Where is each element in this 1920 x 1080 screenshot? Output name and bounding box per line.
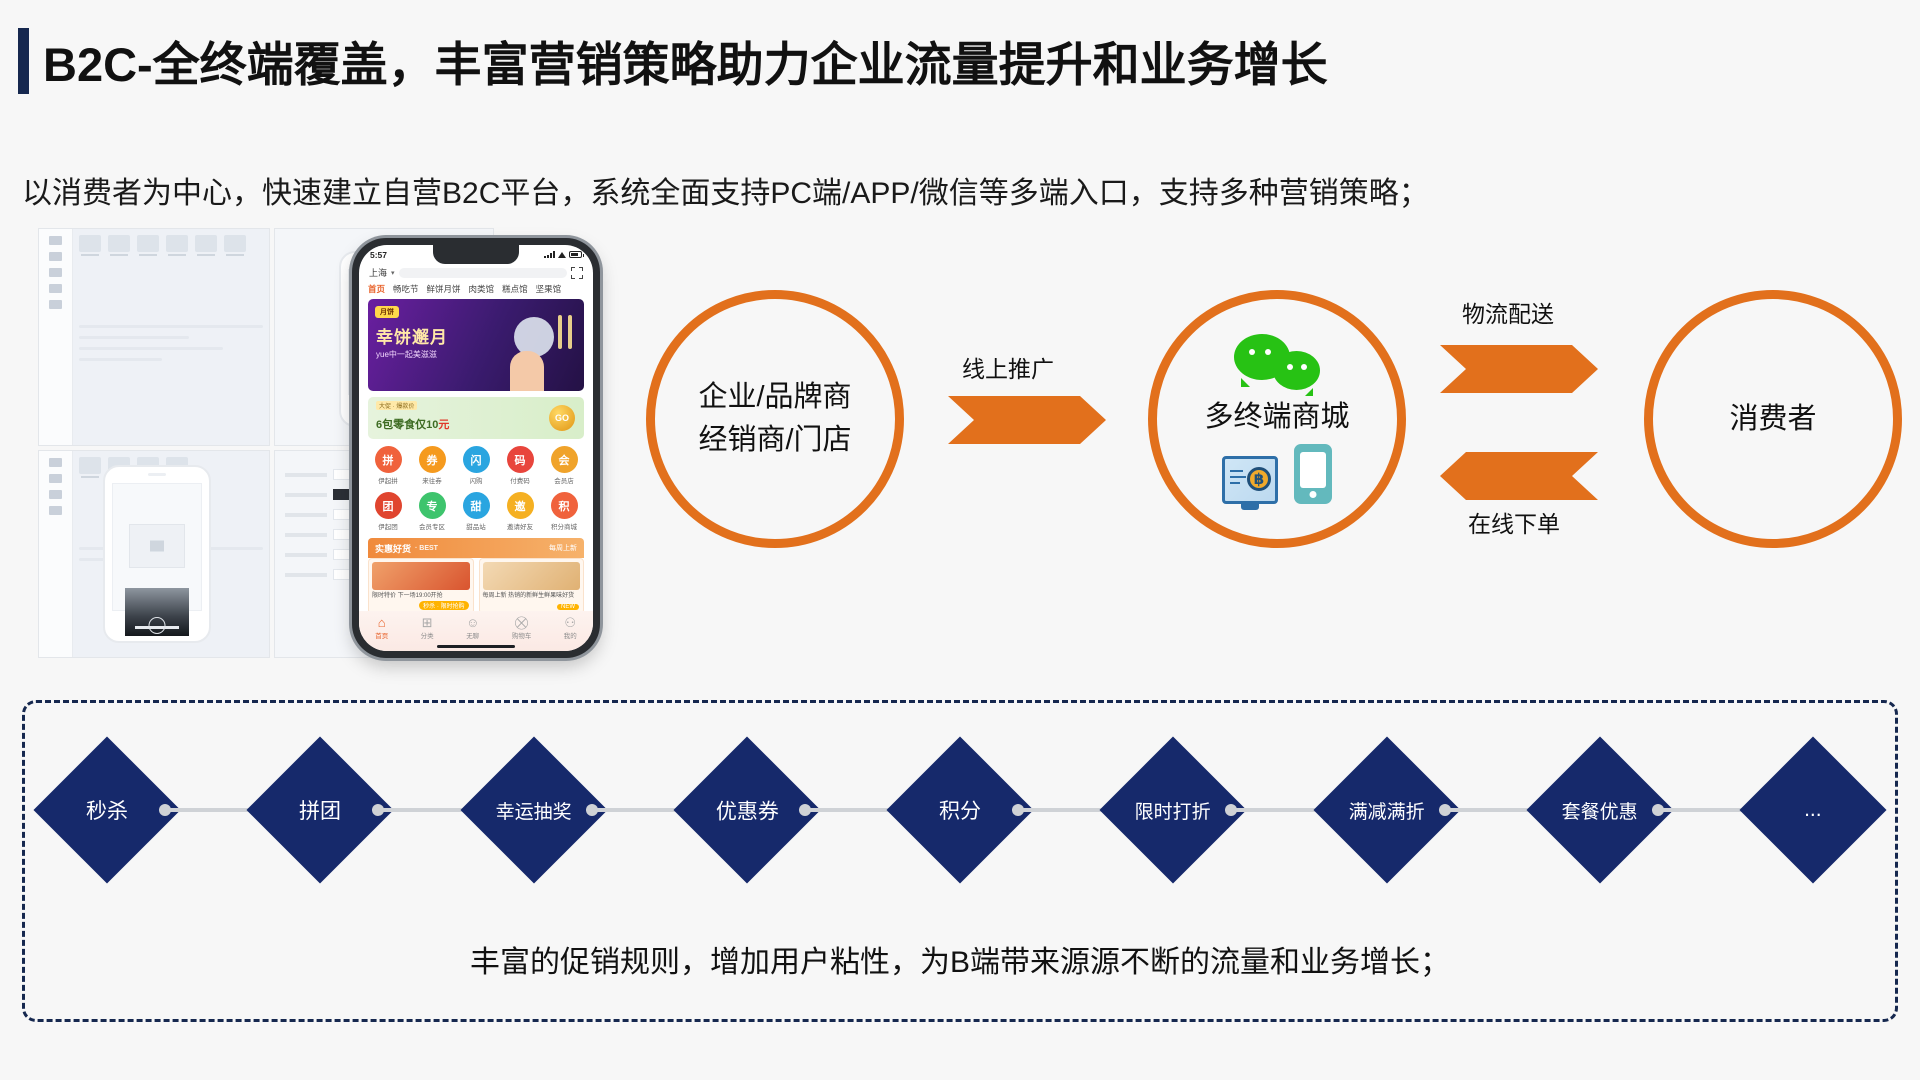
promotion-item[interactable]: 积分 — [908, 758, 1012, 862]
chevron-down-icon[interactable]: ▾ — [391, 269, 395, 277]
sidebar-icon — [49, 490, 62, 499]
palette-tile — [137, 235, 159, 252]
nav-item[interactable]: 鲜饼月饼 — [427, 283, 461, 295]
arrow-logistics-delivery — [1440, 345, 1598, 393]
tab-chat[interactable]: ☺无聊 — [466, 616, 479, 640]
grid-item[interactable]: 甜甜品站 — [456, 492, 496, 531]
promotion-item[interactable]: ... — [1761, 758, 1865, 862]
nav-item[interactable]: 糕点馆 — [502, 283, 528, 295]
mobile-home-button — [1310, 491, 1317, 498]
wifi-icon — [558, 252, 566, 258]
quick-entry-label: 伊起团 — [368, 521, 408, 531]
sidebar-icon — [49, 268, 62, 277]
quick-entry-icon: 码 — [507, 446, 534, 473]
promotion-label: 限时打折 — [1135, 796, 1211, 823]
sidebar-icon — [49, 506, 62, 515]
page-title: B2C-全终端覆盖，丰富营销策略助力企业流量提升和业务增长 — [18, 26, 1328, 95]
tab-category[interactable]: ⊞分类 — [421, 616, 434, 640]
app-top-bar: 上海 ▾ — [359, 264, 593, 281]
hero-headline: 幸饼邂月 — [376, 323, 448, 348]
product-badge: NEW — [557, 604, 579, 610]
phone-preview-bottom — [103, 465, 211, 643]
fork-icon — [558, 315, 562, 349]
product-card[interactable]: 限时特价 下一场19:00开抢 秒杀 · 限时抢购 — [368, 558, 474, 614]
multiterminal-mall-label: 多终端商城 — [1204, 396, 1349, 439]
arrow-online-order — [1440, 452, 1598, 500]
tab-label: 首页 — [375, 630, 388, 640]
quick-entry-icon: 拼 — [375, 446, 402, 473]
app-category-nav[interactable]: 首页 畅吃节 鲜饼月饼 肉类馆 糕点馆 坚果馆 — [359, 281, 593, 299]
tab-home[interactable]: ⌂首页 — [375, 616, 388, 640]
bitcoin-icon: ฿ — [1247, 467, 1271, 491]
grid-item[interactable]: 拼伊起拼 — [368, 446, 408, 485]
home-button — [149, 617, 166, 634]
grid-item[interactable]: 券来往券 — [412, 446, 452, 485]
line — [79, 358, 162, 361]
quick-entry-grid[interactable]: 拼伊起拼 券来往券 闪闪购 码付费码 会会员店 团伊起团 专会员专区 甜甜品站 … — [368, 446, 584, 531]
promotion-item[interactable]: 幸运抽奖 — [482, 758, 586, 862]
mobile-screen — [1300, 452, 1326, 488]
sidebar-icon — [49, 236, 62, 245]
promotion-item[interactable]: 套餐优惠 — [1548, 758, 1652, 862]
status-indicators — [544, 251, 582, 258]
product-list[interactable]: 限时特价 下一场19:00开抢 秒杀 · 限时抢购 每周上新 热销的新鲜生鲜果味… — [368, 558, 584, 614]
quick-entry-label: 甜品站 — [456, 521, 496, 531]
camera-icon — [148, 473, 166, 476]
promo-main-text: 6包零食仅10 — [376, 419, 438, 431]
promo-unit: 元 — [438, 419, 449, 431]
eye — [1265, 349, 1271, 355]
promotion-label: ... — [1804, 798, 1822, 822]
quick-entry-icon: 甜 — [463, 492, 490, 519]
product-title: 限时特价 下一场19:00开抢 — [372, 592, 470, 600]
quick-entry-icon: 团 — [375, 492, 402, 519]
field-label — [285, 533, 327, 537]
tab-label: 购物车 — [512, 630, 532, 640]
grid-item[interactable]: 闪闪购 — [456, 446, 496, 485]
bubble-small — [1273, 351, 1320, 390]
section-header-best: 实惠好货 · BEST 每周上新 — [368, 538, 584, 558]
promo-go-button[interactable]: GO — [549, 405, 575, 431]
palette-tile — [79, 235, 101, 252]
grid-item[interactable]: 积积分商城 — [544, 492, 584, 531]
title-accent-bar — [18, 28, 29, 94]
promotion-diamond: 幸运抽奖 — [460, 736, 607, 883]
quick-entry-icon: 邀 — [507, 492, 534, 519]
quick-entry-label: 积分商城 — [544, 521, 584, 531]
grid-item[interactable]: 专会员专区 — [412, 492, 452, 531]
status-time: 5:57 — [370, 250, 387, 260]
slide-canvas: B2C-全终端覆盖，丰富营销策略助力企业流量提升和业务增长 以消费者为中心，快速… — [0, 0, 1920, 1080]
sidebar-strip — [39, 229, 73, 445]
tab-label: 分类 — [421, 630, 434, 640]
quick-entry-icon: 积 — [551, 492, 578, 519]
sidebar-icon — [49, 284, 62, 293]
sidebar-icon — [49, 252, 62, 261]
line — [79, 336, 189, 339]
flow-node-enterprise: 企业/品牌商 经销商/门店 — [646, 290, 904, 548]
palette-tile — [166, 235, 188, 252]
iphone-mockup: 5:57 上海 ▾ 首页 畅吃节 鲜饼月饼 肉类馆 糕点馆 坚果馆 — [352, 238, 600, 658]
grid-icon: ⊞ — [421, 616, 434, 630]
flow-node-consumer: 消费者 — [1644, 290, 1902, 548]
promotion-item[interactable]: 拼团 — [268, 758, 372, 862]
person-icon: ⚇ — [564, 616, 577, 630]
arrow-label-online-promotion: 线上推广 — [962, 350, 1054, 384]
battery-icon — [569, 251, 582, 258]
admin-screenshot-top-left — [38, 228, 270, 446]
promotion-item[interactable]: 优惠券 — [695, 758, 799, 862]
section-title: 实惠好货 — [375, 542, 411, 555]
product-title: 每周上新 热销的新鲜生鲜果味好货 — [483, 592, 581, 600]
placeholder-lines — [79, 325, 263, 369]
promotions-panel: 秒杀 拼团 幸运抽奖 优惠券 积分 限时打折 满减满 — [22, 700, 1898, 1022]
product-badge: 秒杀 · 限时抢购 — [419, 601, 468, 610]
eye — [1287, 364, 1293, 370]
promotion-label: 幸运抽奖 — [495, 796, 571, 823]
promotion-label: 套餐优惠 — [1562, 796, 1638, 823]
promo-text: 6包零食仅10元 — [376, 416, 449, 432]
field-label — [285, 513, 327, 517]
grid-item[interactable]: 码付费码 — [500, 446, 540, 485]
section-right-label: 每周上新 — [549, 543, 577, 553]
admin-screenshot-bottom-left — [38, 450, 270, 658]
section-subtitle: · BEST — [415, 545, 438, 552]
eye — [1249, 349, 1255, 355]
promotion-item[interactable]: 秒杀 — [55, 758, 159, 862]
quick-entry-label: 伊起拼 — [368, 475, 408, 485]
eye — [1301, 364, 1307, 370]
product-image — [372, 562, 470, 590]
grid-item[interactable]: 团伊起团 — [368, 492, 408, 531]
promotion-label: 满减满折 — [1348, 796, 1424, 823]
signal-icon — [544, 251, 555, 258]
promotion-diamond-row: 秒杀 拼团 幸运抽奖 优惠券 积分 限时打折 满减满 — [55, 725, 1865, 895]
enterprise-line-1: 企业/品牌商 — [698, 376, 851, 419]
quick-entry-label: 付费码 — [500, 475, 540, 485]
monitor-stand — [1241, 504, 1259, 510]
hero-banner[interactable]: 月饼 幸饼邂月 yue中一起美滋滋 — [368, 299, 584, 391]
nav-item[interactable]: 首页 — [368, 283, 385, 295]
nav-item[interactable]: 坚果馆 — [536, 283, 562, 295]
iphone-screen: 5:57 上海 ▾ 首页 畅吃节 鲜饼月饼 肉类馆 糕点馆 坚果馆 — [359, 245, 593, 651]
nav-item[interactable]: 畅吃节 — [393, 283, 419, 295]
status-bar: 5:57 — [359, 245, 593, 264]
promotion-item[interactable]: 限时打折 — [1121, 758, 1225, 862]
field-label — [285, 573, 327, 577]
quick-entry-label: 闪购 — [456, 475, 496, 485]
palette-tile — [79, 457, 101, 474]
quick-entry-icon: 券 — [419, 446, 446, 473]
promotion-diamond: ... — [1739, 736, 1886, 883]
arrow-label-online-order: 在线下单 — [1468, 505, 1560, 539]
device-icon-row: ฿ — [1222, 444, 1332, 504]
arrow-online-promotion — [948, 396, 1106, 444]
tab-profile[interactable]: ⚇我的 — [564, 616, 577, 640]
chat-icon: ☺ — [466, 616, 479, 630]
phone-screen — [112, 483, 202, 611]
hero-subline: yue中一起美滋滋 — [376, 349, 437, 360]
promotion-diamond: 满减满折 — [1313, 736, 1460, 883]
line — [79, 325, 263, 328]
image-placeholder-icon — [129, 524, 185, 568]
hero-tag: 月饼 — [375, 306, 399, 318]
promotion-label: 积分 — [939, 795, 981, 825]
tab-label: 无聊 — [466, 630, 479, 640]
tab-cart[interactable]: ⛒购物车 — [512, 616, 532, 640]
field-label — [285, 473, 327, 477]
consumer-label: 消费者 — [1729, 398, 1816, 441]
promotion-label: 秒杀 — [86, 795, 128, 825]
product-card[interactable]: 每周上新 热销的新鲜生鲜果味好货 NEW — [479, 558, 585, 614]
subtitle-label: 以消费者为中心，快速建立自营B2C平台，系统全面支持PC端/APP/微信等多端入… — [22, 168, 1429, 212]
location-selector[interactable]: 上海 — [369, 266, 387, 279]
quick-entry-label: 会员店 — [544, 475, 584, 485]
apple-mobile-icon — [1294, 444, 1332, 504]
desktop-bitcoin-icon: ฿ — [1222, 456, 1278, 504]
grid-item[interactable]: 邀邀请好友 — [500, 492, 540, 531]
arrow-label-logistics: 物流配送 — [1462, 295, 1554, 329]
product-image — [483, 562, 581, 590]
wechat-icon — [1234, 334, 1320, 392]
flow-node-multiterminal-mall: 多终端商城 ฿ — [1148, 290, 1406, 548]
enterprise-line-2: 经销商/门店 — [698, 419, 851, 462]
palette-tile — [224, 235, 246, 252]
title-label: B2C-全终端覆盖，丰富营销策略助力企业流量提升和业务增长 — [43, 26, 1328, 95]
quick-entry-icon: 会 — [551, 446, 578, 473]
promotion-label: 拼团 — [299, 795, 341, 825]
promo-banner[interactable]: 大促 · 爆款价 6包零食仅10元 GO — [368, 397, 584, 439]
quick-entry-icon: 闪 — [463, 446, 490, 473]
sidebar-icon — [49, 300, 62, 309]
sidebar-strip — [39, 451, 73, 657]
field-label — [285, 493, 327, 497]
search-input[interactable] — [399, 268, 567, 278]
quick-entry-label: 来往券 — [412, 475, 452, 485]
tab-label: 我的 — [564, 630, 577, 640]
promo-stamp: 大促 · 爆款价 — [376, 401, 417, 410]
grid-item[interactable]: 会会员店 — [544, 446, 584, 485]
promotions-caption: 丰富的促销规则，增加用户粘性，为B端带来源源不断的流量和业务增长； — [25, 937, 1895, 981]
quick-entry-label: 会员专区 — [412, 521, 452, 531]
quick-entry-label: 邀请好友 — [500, 521, 540, 531]
sidebar-icon — [49, 458, 62, 467]
promotion-item[interactable]: 满减满折 — [1335, 758, 1439, 862]
component-palette — [79, 235, 265, 252]
scan-icon[interactable] — [571, 267, 583, 279]
palette-tile — [108, 235, 130, 252]
sidebar-icon — [49, 474, 62, 483]
home-icon: ⌂ — [375, 616, 388, 630]
hand-graphic — [510, 351, 544, 391]
palette-tile — [195, 235, 217, 252]
knife-icon — [568, 315, 572, 349]
cart-icon: ⛒ — [512, 616, 532, 630]
quick-entry-icon: 专 — [419, 492, 446, 519]
promotion-label: 优惠券 — [715, 795, 778, 825]
nav-item[interactable]: 肉类馆 — [469, 283, 495, 295]
line — [79, 347, 223, 350]
home-indicator — [437, 645, 515, 648]
field-label — [285, 553, 327, 557]
